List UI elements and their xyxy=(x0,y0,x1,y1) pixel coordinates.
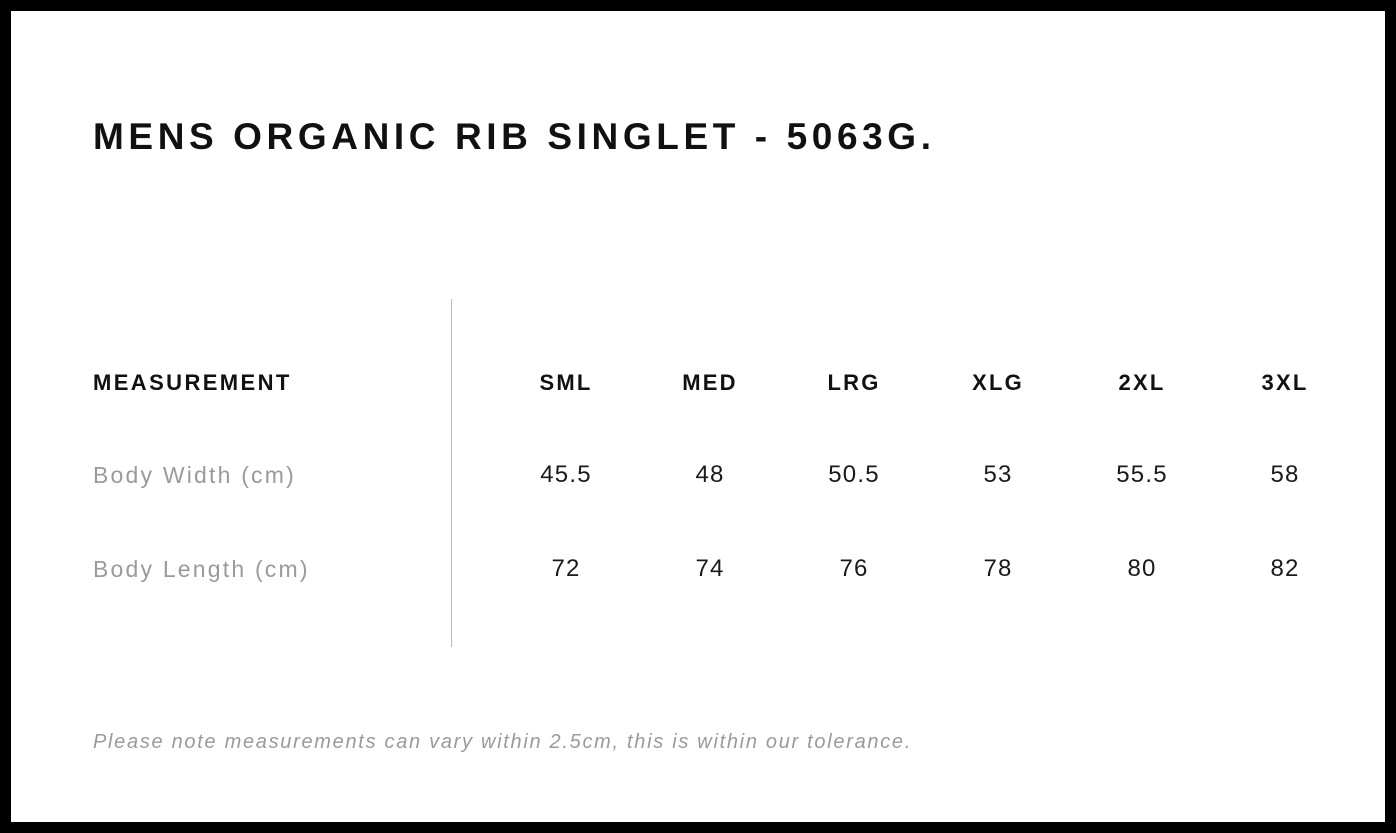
cell-body-length-med: 74 xyxy=(650,549,770,589)
cell-body-width-med: 48 xyxy=(650,455,770,495)
size-chart-sheet: MENS ORGANIC RIB SINGLET - 5063G. MEASUR… xyxy=(11,11,1385,822)
cell-body-length-lrg: 76 xyxy=(794,549,914,589)
cell-body-length-sml: 72 xyxy=(506,549,626,589)
cell-body-width-3xl: 58 xyxy=(1225,455,1345,495)
tolerance-footnote: Please note measurements can vary within… xyxy=(93,729,912,755)
table-header-row: MEASUREMENT SML MED LRG XLG 2XL 3XL xyxy=(11,363,1385,403)
cell-body-length-2xl: 80 xyxy=(1082,549,1202,589)
cell-body-width-sml: 45.5 xyxy=(506,455,626,495)
row-label-body-width: Body Width (cm) xyxy=(93,455,296,495)
cell-body-length-3xl: 82 xyxy=(1225,549,1345,589)
chart-border-frame: MENS ORGANIC RIB SINGLET - 5063G. MEASUR… xyxy=(0,0,1396,833)
cell-body-length-xlg: 78 xyxy=(938,549,1058,589)
size-header-med: MED xyxy=(650,363,770,403)
size-header-lrg: LRG xyxy=(794,363,914,403)
cell-body-width-2xl: 55.5 xyxy=(1082,455,1202,495)
table-row: Body Width (cm) 45.5 48 50.5 53 55.5 58 xyxy=(11,455,1385,495)
row-label-body-length: Body Length (cm) xyxy=(93,549,310,589)
measurement-header-label: MEASUREMENT xyxy=(93,363,292,403)
cell-body-width-xlg: 53 xyxy=(938,455,1058,495)
size-header-2xl: 2XL xyxy=(1082,363,1202,403)
size-header-3xl: 3XL xyxy=(1225,363,1345,403)
table-row: Body Length (cm) 72 74 76 78 80 82 xyxy=(11,549,1385,589)
cell-body-width-lrg: 50.5 xyxy=(794,455,914,495)
size-header-sml: SML xyxy=(506,363,626,403)
size-header-xlg: XLG xyxy=(938,363,1058,403)
size-chart-table: MEASUREMENT SML MED LRG XLG 2XL 3XL Body… xyxy=(11,11,1385,822)
